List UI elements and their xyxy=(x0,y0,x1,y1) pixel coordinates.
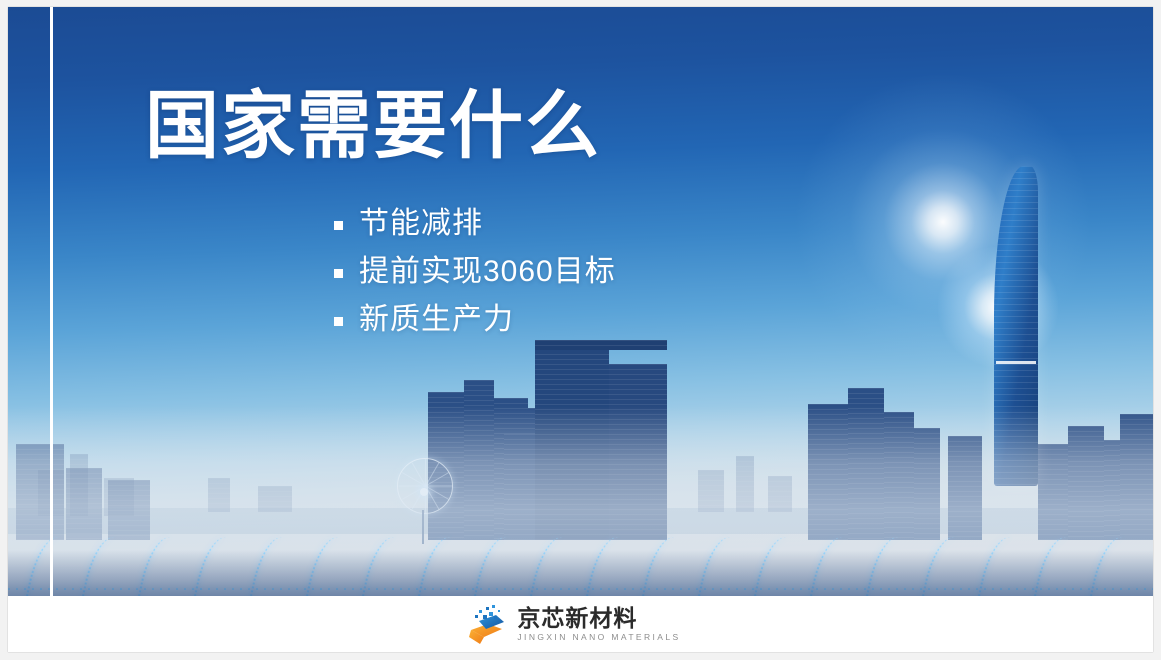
building-tall xyxy=(1120,414,1153,540)
bullet-item: 新质生产力 xyxy=(334,296,616,344)
building-mid xyxy=(66,468,102,540)
building-tall xyxy=(884,412,914,540)
building-tall xyxy=(504,434,536,540)
slide-title: 国家需要什么 xyxy=(145,87,601,165)
presentation-canvas: 国家需要什么 节能减排 提前实现3060目标 新质生产力 xyxy=(0,0,1161,660)
building-tall xyxy=(1068,426,1104,540)
company-logo: 京芯新材料 JINGXIN NANO MATERIALS xyxy=(466,604,680,644)
building-tall xyxy=(808,404,848,540)
building-tall xyxy=(464,380,494,540)
bullet-item: 提前实现3060目标 xyxy=(334,248,616,296)
building-far xyxy=(698,470,724,512)
building-tall xyxy=(848,388,884,540)
building-hero-center xyxy=(535,344,609,540)
slide-footer: 京芯新材料 JINGXIN NANO MATERIALS xyxy=(8,596,1153,652)
building-mid xyxy=(16,444,64,540)
left-accent-rule xyxy=(50,7,53,596)
building-tall xyxy=(914,428,940,540)
building-hero-center-wing xyxy=(609,364,667,540)
city-skyline xyxy=(8,336,1153,596)
building-far xyxy=(736,456,754,512)
building-far xyxy=(768,476,792,512)
logo-name-en: JINGXIN NANO MATERIALS xyxy=(517,632,680,642)
square-bullet-icon xyxy=(334,269,343,278)
pixel-arrow-logo-icon xyxy=(466,604,508,644)
tower-light-band xyxy=(996,361,1036,364)
building-far xyxy=(258,486,292,512)
building-far xyxy=(208,478,230,512)
logo-wordmark: 京芯新材料 JINGXIN NANO MATERIALS xyxy=(517,606,680,642)
building-tall xyxy=(948,436,982,540)
bullet-item: 节能减排 xyxy=(334,200,616,248)
bullet-list: 节能减排 提前实现3060目标 新质生产力 xyxy=(334,200,616,344)
ferris-wheel-support xyxy=(422,510,424,544)
ferris-wheel-icon xyxy=(397,458,453,514)
bullet-label: 提前实现3060目标 xyxy=(359,257,616,287)
slide: 国家需要什么 节能减排 提前实现3060目标 新质生产力 xyxy=(8,7,1153,652)
ferris-wheel-hub-glow xyxy=(420,488,428,496)
square-bullet-icon xyxy=(334,317,343,326)
logo-name-cn: 京芯新材料 xyxy=(517,606,637,630)
bullet-label: 节能减排 xyxy=(359,209,483,239)
bullet-label: 新质生产力 xyxy=(359,305,514,335)
building-mid xyxy=(108,480,150,540)
square-bullet-icon xyxy=(334,221,343,230)
building-tall xyxy=(1038,444,1068,540)
